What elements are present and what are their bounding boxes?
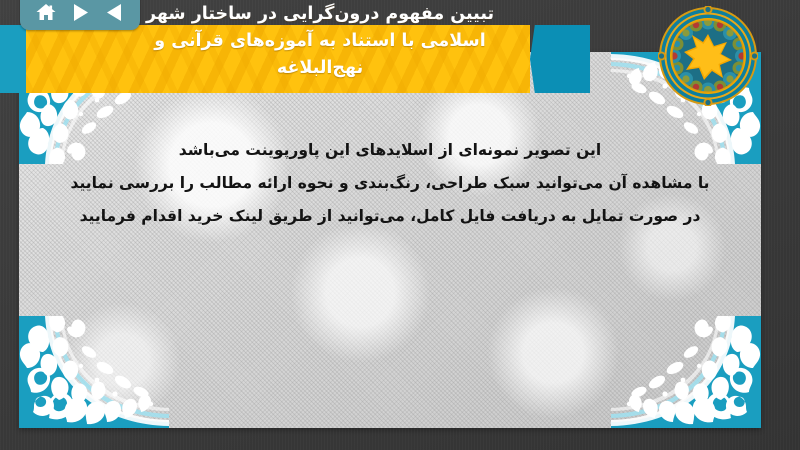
slide-content-frame: این تصویر نمونه‌ای از اسلایدهای این پاور… [19,52,761,428]
slide-body-text: این تصویر نمونه‌ای از اسلایدهای این پاور… [19,134,761,233]
previous-slide-button[interactable] [101,1,127,23]
title-line-2: اسلامی با استناد به آموزه‌های قرآنی و [0,28,640,55]
body-line-3: در صورت تمایل به دریافت فایل کامل، می‌تو… [49,200,731,233]
next-slide-button[interactable] [67,1,93,23]
body-line-1: این تصویر نمونه‌ای از اسلایدهای این پاور… [49,134,731,167]
presentation-slide: این تصویر نمونه‌ای از اسلایدهای این پاور… [0,0,800,450]
triangle-left-icon [107,4,122,21]
slide-paper-background [19,52,761,428]
islamic-medallion-icon [658,6,758,106]
body-line-2: با مشاهده آن می‌توانید سبک طراحی، رنگ‌بن… [49,167,731,200]
triangle-right-icon [73,4,88,21]
slide-navigation-bar [20,0,140,30]
home-icon [36,3,56,21]
home-button[interactable] [33,1,59,23]
